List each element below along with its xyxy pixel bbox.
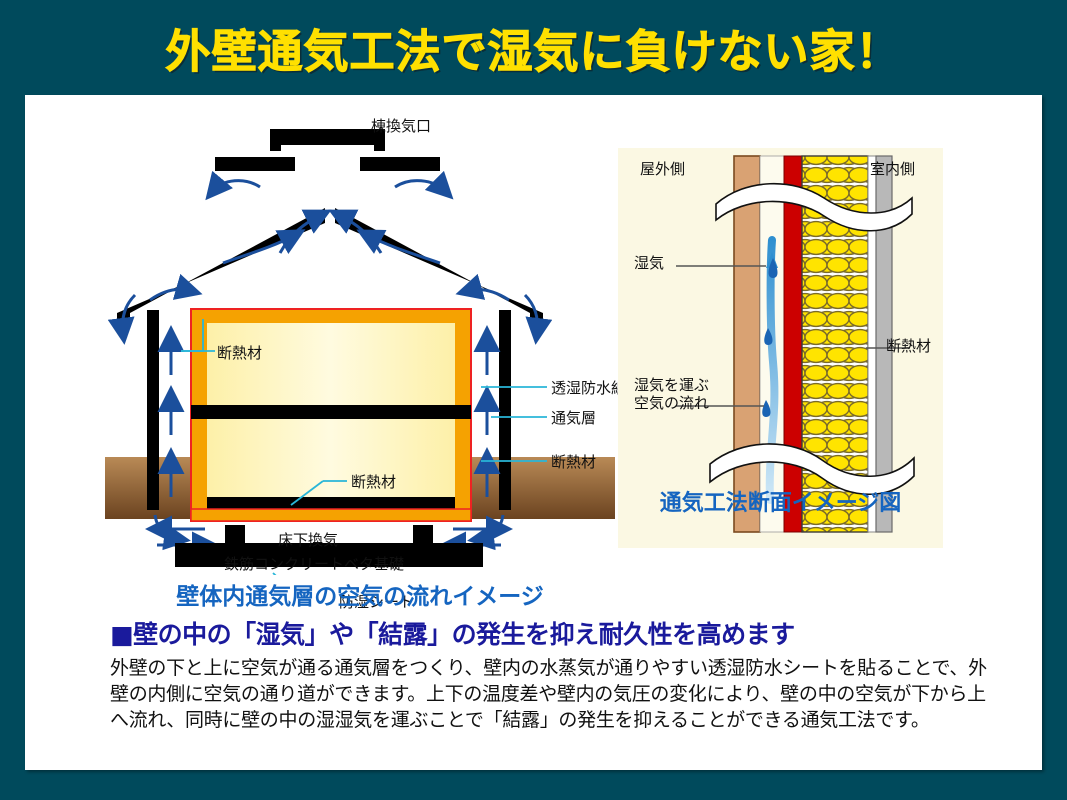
- label-airflow-line2: 空気の流れ: [634, 394, 709, 413]
- label-moisture-permeable-paper: 透湿防水紙: [551, 377, 626, 398]
- label-underfloor-vent: 床下換気: [278, 529, 338, 550]
- ridge-vent-left: [215, 157, 295, 171]
- roof-right: [335, 208, 543, 313]
- floor-slab-bottom: [207, 497, 455, 509]
- page-title: 外壁通気工法で湿気に負けない家！: [165, 15, 901, 80]
- label-vent-layer: 通気層: [551, 407, 596, 428]
- label-insulation-lower: 断熱材: [351, 471, 396, 492]
- waterproof-layer: [784, 156, 802, 532]
- label-insulation-right: 断熱材: [551, 451, 596, 472]
- description-block: ■壁の中の「湿気」や「結露」の発生を抑え耐久性を高めます 外壁の下と上に空気が通…: [110, 615, 990, 734]
- ridge-cap-left-leg: [270, 129, 281, 151]
- label-outdoor-side: 屋外側: [640, 160, 685, 179]
- label-insulation-top: 断熱材: [217, 342, 262, 363]
- label-ridge-vent: 棟換気口: [371, 115, 431, 136]
- house-diagram-caption: 壁体内通気層の空気の流れイメージ: [100, 577, 620, 611]
- sill-band: [191, 509, 471, 521]
- top-band: [207, 317, 455, 323]
- roof-left: [117, 208, 325, 313]
- floor-slab-mid: [191, 405, 471, 419]
- title-bar: 外壁通気工法で湿気に負けない家！: [0, 0, 1067, 95]
- house-diagram-svg: [95, 105, 625, 575]
- label-foundation: 鉄筋コンクリートベタ基礎: [224, 553, 404, 574]
- ridge-cap: [270, 129, 385, 145]
- exterior-wall-left: [147, 310, 159, 510]
- description-heading: ■壁の中の「湿気」や「結露」の発生を抑え耐久性を高めます: [110, 615, 990, 651]
- ridge-vent-right: [360, 157, 440, 171]
- house-cross-section-diagram: 棟換気口 断熱材 透湿防水紙 通気層 断熱材 断熱材 床下換気 鉄筋コンクリート…: [95, 105, 625, 575]
- wall-section-caption: 通気工法断面イメージ図: [618, 485, 943, 517]
- content-panel: 棟換気口 断熱材 透湿防水紙 通気層 断熱材 断熱材 床下換気 鉄筋コンクリート…: [25, 95, 1042, 770]
- label-wall-insulation: 断熱材: [886, 337, 931, 356]
- label-airflow-line1: 湿気を運ぶ: [634, 376, 709, 395]
- description-body: 外壁の下と上に空気が通る通気層をつくり、壁内の水蒸気が通りやすい透湿防水シートを…: [110, 655, 990, 734]
- label-moisture: 湿気: [634, 254, 664, 273]
- exterior-wall-right: [499, 310, 511, 510]
- label-indoor-side: 室内側: [870, 160, 915, 179]
- siding-layer: [734, 156, 760, 532]
